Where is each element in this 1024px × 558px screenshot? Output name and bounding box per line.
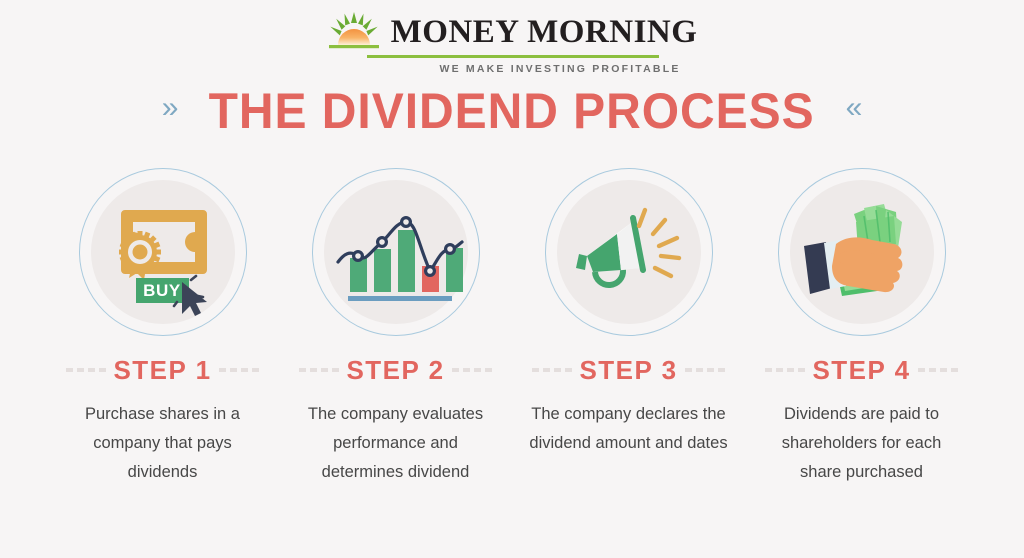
stock-certificate-buy-click-icon: BUY [91, 180, 235, 324]
step-description-1: Purchase shares in a company that pays d… [60, 400, 265, 487]
brand-tagline: WE MAKE INVESTING PROFITABLE [439, 63, 680, 75]
step-dots-left-2 [299, 368, 339, 372]
step-label-row-4: STEP 4 [745, 357, 978, 383]
megaphone-announcement-icon [557, 180, 701, 324]
step-icon-circle-1: BUY [79, 168, 247, 336]
step-icon-circle-2 [312, 168, 480, 336]
logo-underline [367, 55, 659, 58]
steps-container: BUY STEP 1 Purchase shares in a company … [0, 168, 1024, 487]
step-label-3: STEP 3 [579, 357, 677, 383]
step-icon-circle-3 [545, 168, 713, 336]
step-card-2: STEP 2 The company evaluates performance… [279, 168, 512, 487]
step-card-3: STEP 3 The company declares the dividend… [512, 168, 745, 458]
step-label-row-2: STEP 2 [279, 357, 512, 383]
step-dots-left-4 [765, 368, 805, 372]
brand-logo: MONEY MORNING WE MAKE INVESTING PROFITAB… [0, 12, 1024, 75]
step-label-row-3: STEP 3 [512, 357, 745, 383]
step-label-4: STEP 4 [812, 357, 910, 383]
page-title-row: » THE DIVIDEND PROCESS « [0, 86, 1024, 136]
step-dots-right-2 [452, 368, 492, 372]
step-description-3: The company declares the dividend amount… [526, 400, 731, 458]
step-description-4: Dividends are paid to shareholders for e… [759, 400, 964, 487]
step-icon-circle-4 [778, 168, 946, 336]
step-label-2: STEP 2 [346, 357, 444, 383]
step-dots-right-4 [918, 368, 958, 372]
step-description-2: The company evaluates performance and de… [293, 400, 498, 487]
svg-text:BUY: BUY [143, 281, 181, 300]
sunrise-icon [327, 12, 381, 52]
step-card-4: STEP 4 Dividends are paid to shareholder… [745, 168, 978, 487]
step-dots-right-3 [685, 368, 725, 372]
brand-name: MONEY MORNING [391, 16, 698, 52]
title-chevron-right-icon: « [846, 93, 863, 123]
title-chevron-left-icon: » [162, 93, 179, 123]
page-title: THE DIVIDEND PROCESS [209, 86, 815, 136]
step-card-1: BUY STEP 1 Purchase shares in a company … [46, 168, 279, 487]
step-label-row-1: STEP 1 [46, 357, 279, 383]
step-dots-right-1 [219, 368, 259, 372]
hand-holding-cash-icon [790, 180, 934, 324]
logo-row: MONEY MORNING [327, 12, 698, 52]
step-dots-left-1 [66, 368, 106, 372]
step-dots-left-3 [532, 368, 572, 372]
bar-chart-trend-icon [324, 180, 468, 324]
step-label-1: STEP 1 [113, 357, 211, 383]
